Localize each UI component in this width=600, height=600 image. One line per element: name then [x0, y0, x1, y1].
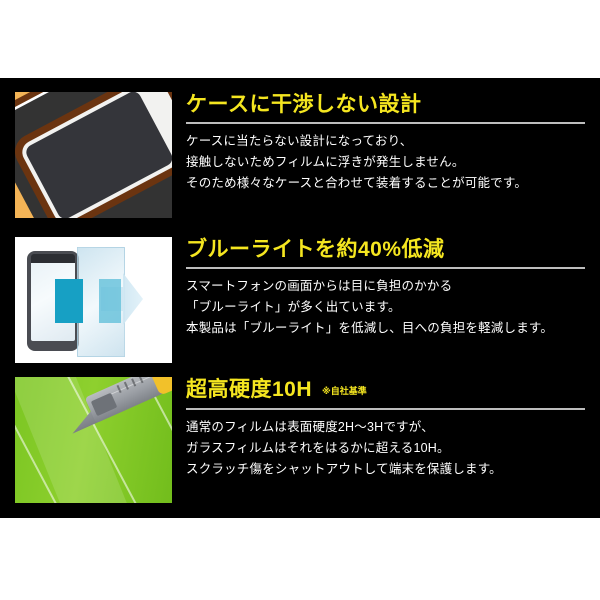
feature-text-column: 超高硬度10H※自社基準 通常のフィルムは表面硬度2H〜3Hですが、 ガラスフィ… — [186, 377, 586, 480]
feature-block-case-friendly-design: ケースに干渉しない設計 ケースに当たらない設計になっており、 接触しないためフィ… — [0, 92, 600, 232]
heading-divider — [186, 408, 585, 410]
feature-text-column: ブルーライトを約40%低減 スマートフォンの画面からは目に負担のかかる 「ブルー… — [186, 237, 586, 339]
feature-body-line: ガラスフィルムはそれをはるかに超える10H。 — [186, 438, 586, 459]
heading-divider — [186, 122, 585, 124]
feature-block-hardness-10h: 超高硬度10H※自社基準 通常のフィルムは表面硬度2H〜3Hですが、 ガラスフィ… — [0, 377, 600, 517]
black-feature-panel: ケースに干渉しない設計 ケースに当たらない設計になっており、 接触しないためフィ… — [0, 78, 600, 518]
feature-body: ケースに当たらない設計になっており、 接触しないためフィルムに浮きが発生しません… — [186, 131, 586, 194]
feature-body-line: ケースに当たらない設計になっており、 — [186, 131, 586, 152]
feature-heading-text: ケースに干渉しない設計 — [186, 93, 421, 116]
feature-text-column: ケースに干渉しない設計 ケースに当たらない設計になっており、 接触しないためフィ… — [186, 92, 586, 194]
utility-knife-scratch-illustration — [15, 377, 172, 503]
feature-body-line: スマートフォンの画面からは目に負担のかかる — [186, 276, 586, 297]
feature-body-line: 本製品は「ブルーライト」を低減し、目への負担を軽減します。 — [186, 318, 586, 339]
feature-heading-text: ブルーライトを約40%低減 — [186, 238, 445, 261]
feature-heading: ブルーライトを約40%低減 — [186, 237, 586, 263]
feature-heading: ケースに干渉しない設計 — [186, 92, 586, 118]
smartphone-top-bar — [31, 254, 75, 263]
feature-body: 通常のフィルムは表面硬度2H〜3Hですが、 ガラスフィルムはそれをはるかに超える… — [186, 417, 586, 480]
feature-body-line: スクラッチ傷をシャットアウトして端末を保護します。 — [186, 459, 586, 480]
teal-block-after — [99, 279, 121, 323]
feature-heading-note: ※自社基準 — [322, 386, 367, 396]
feature-heading: 超高硬度10H※自社基準 — [186, 377, 586, 404]
feature-body-line: そのため様々なケースと合わせて装着することが可能です。 — [186, 173, 586, 194]
feature-body-line: 通常のフィルムは表面硬度2H〜3Hですが、 — [186, 417, 586, 438]
product-feature-infographic: ケースに干渉しない設計 ケースに当たらない設計になっており、 接触しないためフィ… — [0, 0, 600, 600]
feature-heading-text: 超高硬度10H — [186, 378, 312, 401]
heading-divider — [186, 267, 585, 269]
bluelight-filter-illustration — [15, 237, 172, 363]
feature-body-line: 接触しないためフィルムに浮きが発生しません。 — [186, 152, 586, 173]
phone-in-case-illustration — [15, 92, 172, 218]
feature-body-line: 「ブルーライト」が多く出ています。 — [186, 297, 586, 318]
feature-body: スマートフォンの画面からは目に負担のかかる 「ブルーライト」が多く出ています。 … — [186, 276, 586, 339]
teal-block-before — [55, 279, 83, 323]
feature-block-bluelight-reduction: ブルーライトを約40%低減 スマートフォンの画面からは目に負担のかかる 「ブルー… — [0, 237, 600, 377]
